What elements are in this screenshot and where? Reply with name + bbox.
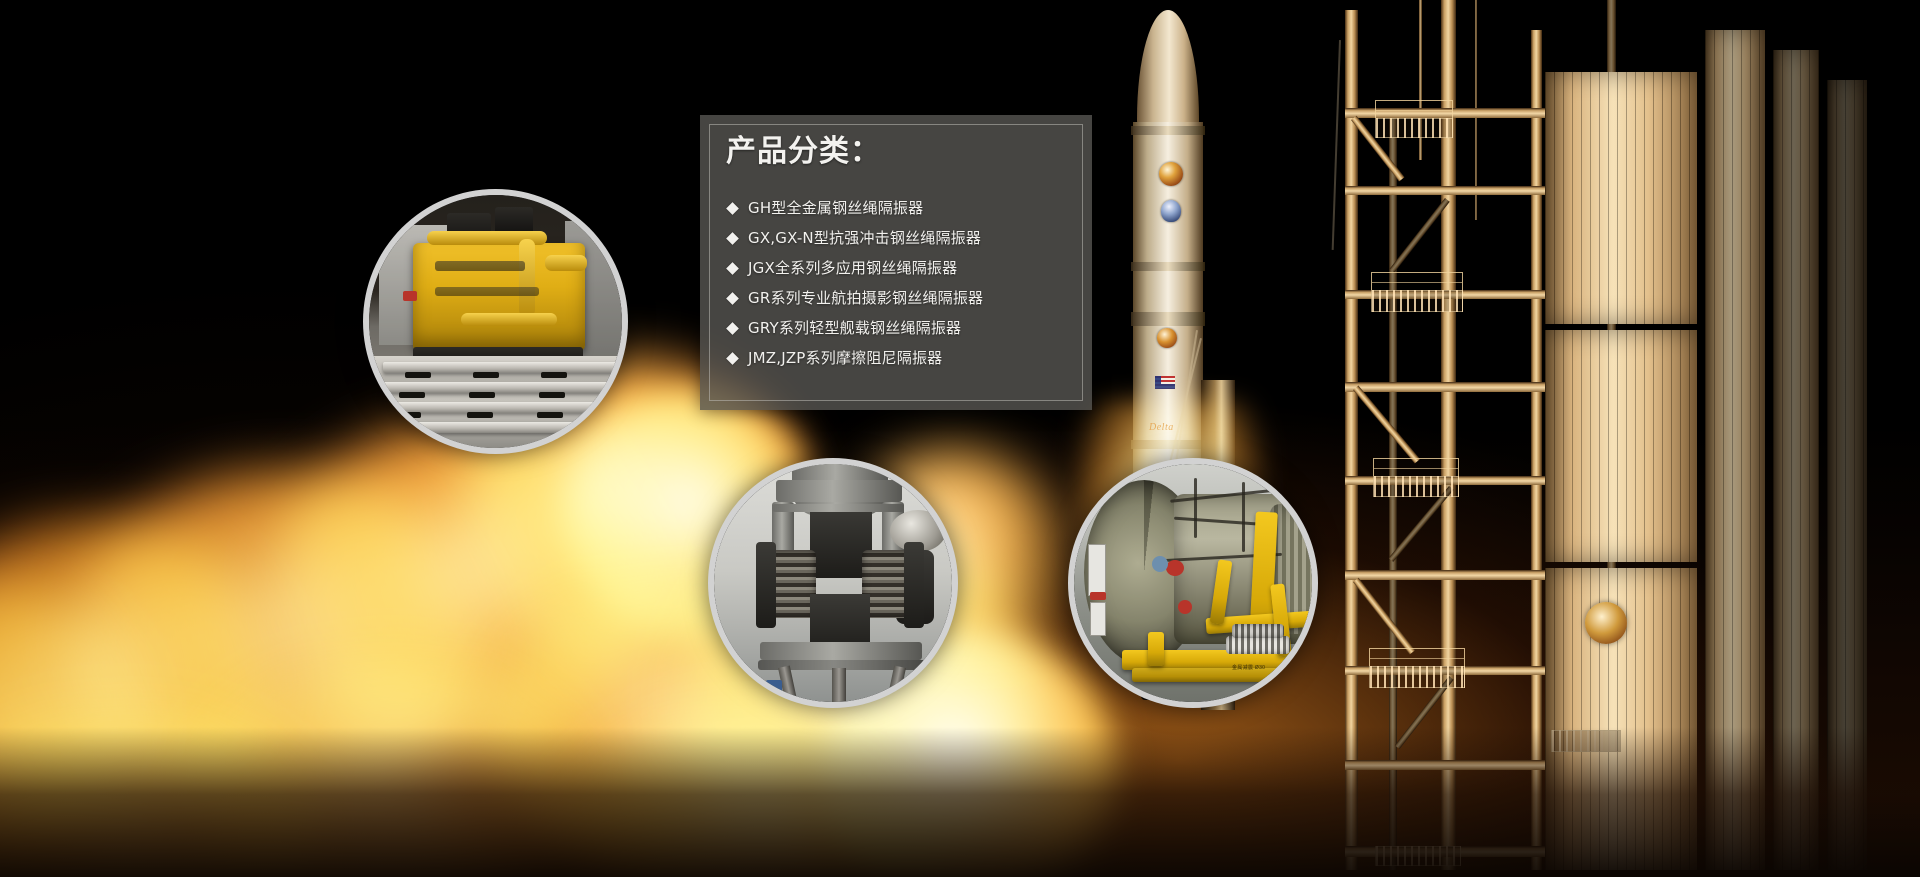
diamond-bullet-icon: [726, 262, 739, 275]
list-item[interactable]: JMZ,JZP系列摩擦阻尼隔振器: [728, 343, 1074, 373]
list-item[interactable]: GRY系列轻型舰载钢丝绳隔振器: [728, 313, 1074, 343]
ground-shadow: [0, 727, 1920, 877]
list-item[interactable]: GX,GX-N型抗强冲击钢丝绳隔振器: [728, 223, 1074, 253]
product-category-panel: 产品分类： GH型全金属钢丝绳隔振器 GX,GX-N型抗强冲击钢丝绳隔振器 JG…: [700, 115, 1092, 410]
tower-logo-plate: [1585, 602, 1627, 644]
list-item[interactable]: GR系列专业航拍摄影钢丝绳隔振器: [728, 283, 1074, 313]
photo-wire-rope-isolator-assembly[interactable]: [708, 458, 958, 708]
banner-stage: Delta: [0, 0, 1920, 877]
list-item-label: GR系列专业航拍摄影钢丝绳隔振器: [748, 283, 983, 313]
product-category-list: GH型全金属钢丝绳隔振器 GX,GX-N型抗强冲击钢丝绳隔振器 JGX全系列多应…: [728, 193, 1074, 373]
page-title: 产品分类：: [726, 133, 881, 171]
list-item[interactable]: GH型全金属钢丝绳隔振器: [728, 193, 1074, 223]
diamond-bullet-icon: [726, 202, 739, 215]
agency-patch-icon: [1161, 200, 1181, 222]
mission-patch-icon: [1159, 162, 1183, 186]
diamond-bullet-icon: [726, 352, 739, 365]
list-item-label: GH型全金属钢丝绳隔振器: [748, 193, 923, 223]
diamond-bullet-icon: [726, 232, 739, 245]
photo-diesel-generator-on-isolation-raft[interactable]: [363, 189, 628, 454]
diamond-bullet-icon: [726, 292, 739, 305]
photo-jet-engine-on-yellow-cradle[interactable]: 金属减震 Ø30: [1068, 458, 1318, 708]
cradle-marking: 金属减震 Ø30: [1232, 664, 1265, 671]
list-item-label: JMZ,JZP系列摩擦阻尼隔振器: [748, 343, 942, 373]
list-item[interactable]: JGX全系列多应用钢丝绳隔振器: [728, 253, 1074, 283]
list-item-label: GX,GX-N型抗强冲击钢丝绳隔振器: [748, 223, 981, 253]
diamond-bullet-icon: [726, 322, 739, 335]
list-item-label: JGX全系列多应用钢丝绳隔振器: [748, 253, 957, 283]
list-item-label: GRY系列轻型舰载钢丝绳隔振器: [748, 313, 961, 343]
